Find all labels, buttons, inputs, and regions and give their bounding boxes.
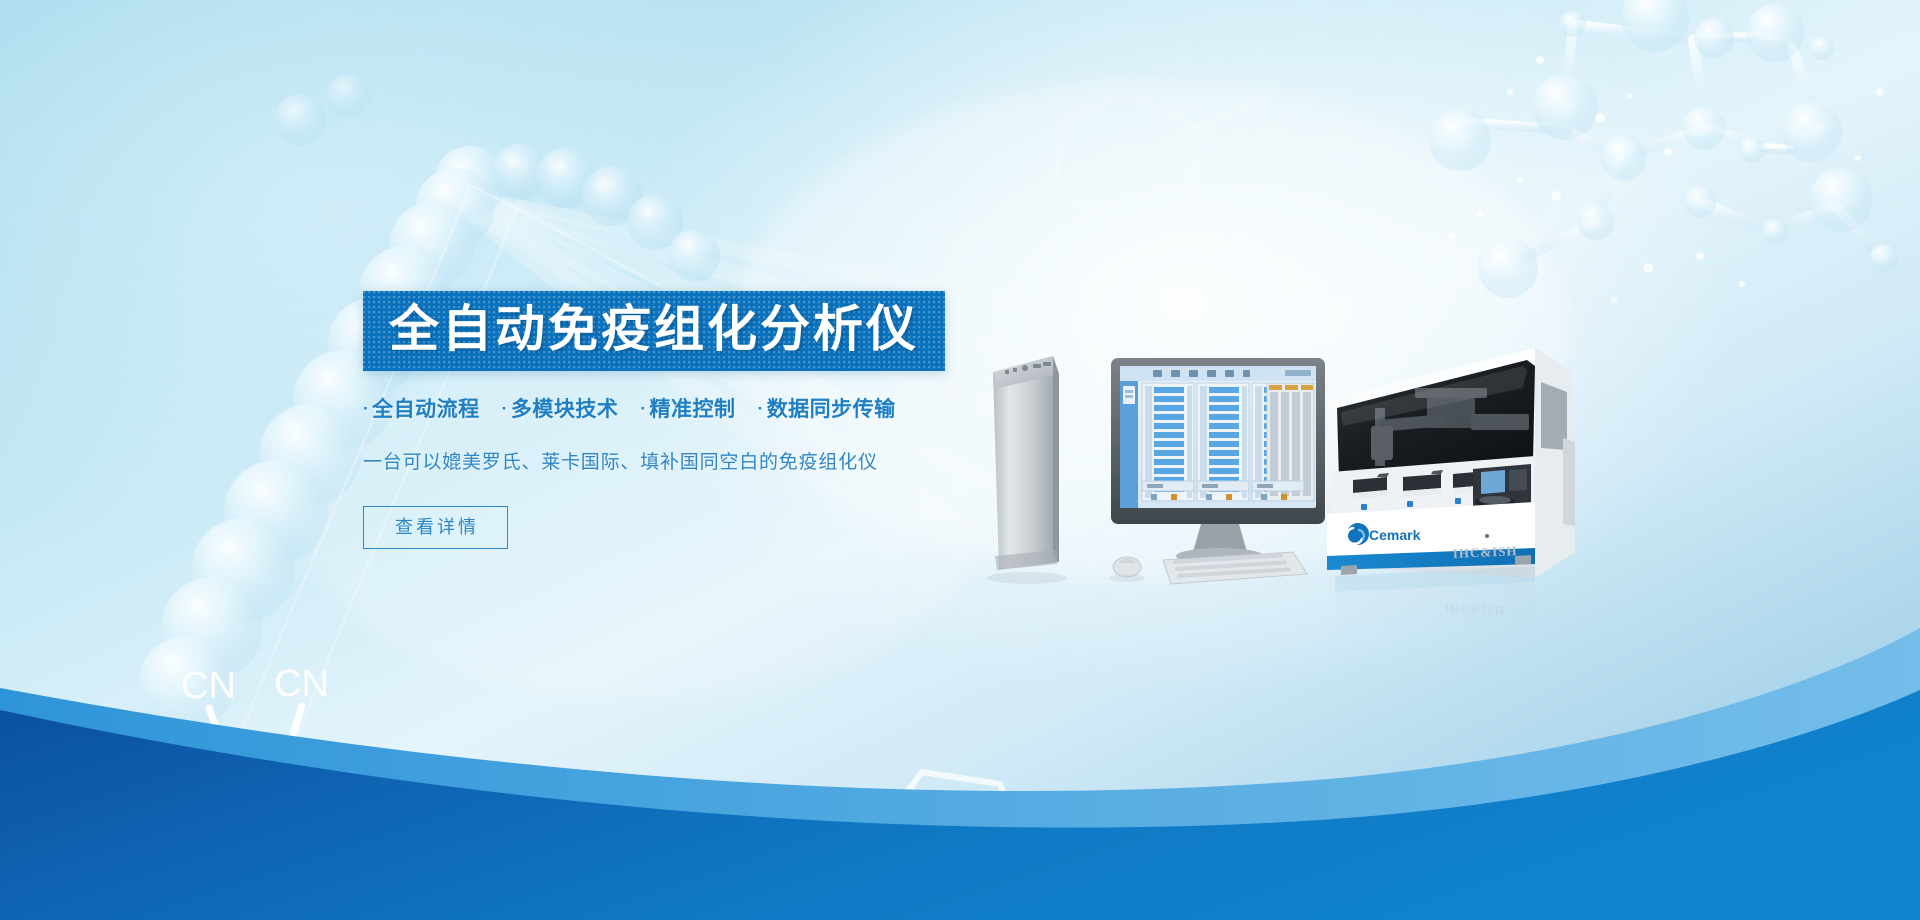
feature-label-1: 全自动流程 <box>372 398 480 421</box>
feature-item-1: ·全自动流程 <box>363 393 480 423</box>
monitor <box>1111 358 1325 564</box>
foot-right <box>1515 555 1531 565</box>
molecule-network-icon <box>1429 0 1898 303</box>
faint-molecule-icon <box>992 92 1266 226</box>
front-indicator <box>1485 534 1489 538</box>
brand-logo-text: Cemark <box>1369 527 1421 543</box>
feature-item-2: ·多模块技术 <box>502 393 619 423</box>
hero-description: 一台可以媲美罗氏、莱卡国际、填补国同空白的免疫组化仪 <box>363 447 1003 474</box>
view-details-button[interactable]: 查看详情 <box>363 506 508 549</box>
bullet-dot-icon: · <box>640 399 646 418</box>
bottom-wave <box>0 570 1920 920</box>
page-title: 全自动免疫组化分析仪 <box>363 291 945 371</box>
hero-banner: CN CN 全自动免疫组化分析仪 ·全自动流程·多模块技术·精准控制·数据同步传… <box>0 0 1920 920</box>
pc-tower <box>993 356 1059 570</box>
page-title-text: 全自动免疫组化分析仪 <box>389 302 919 355</box>
brand-logo: Cemark <box>1347 523 1421 545</box>
hero-copy: 全自动免疫组化分析仪 ·全自动流程·多模块技术·精准控制·数据同步传输 一台可以… <box>363 291 1003 549</box>
feature-label-3: 精准控制 <box>650 398 736 421</box>
side-door <box>1563 438 1575 526</box>
feature-list: ·全自动流程·多模块技术·精准控制·数据同步传输 <box>363 393 1003 423</box>
software-ui <box>1120 366 1316 508</box>
feature-label-4: 数据同步传输 <box>767 398 896 421</box>
feature-item-3: ·精准控制 <box>640 393 735 423</box>
feature-item-4: ·数据同步传输 <box>758 393 896 423</box>
model-label: IHC&ISH <box>1452 543 1517 561</box>
bullet-dot-icon: · <box>363 399 369 418</box>
bullet-dot-icon: · <box>758 399 764 418</box>
bokeh-dots <box>1448 56 1884 303</box>
analyzer: Cemark IHC&ISH <box>1327 348 1575 578</box>
bullet-dot-icon: · <box>502 399 508 418</box>
feature-label-2: 多模块技术 <box>511 398 619 421</box>
